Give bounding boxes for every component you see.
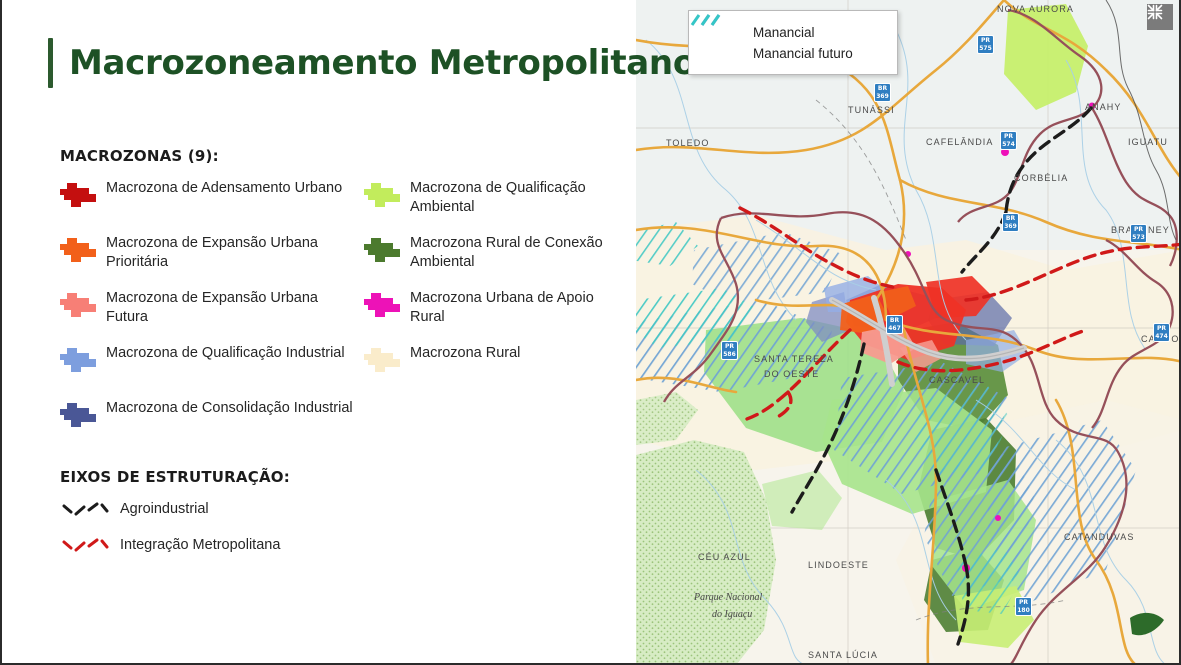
- map-place-label: CATANDUVAS: [1064, 532, 1135, 542]
- road-shield: PR180: [1015, 597, 1032, 616]
- map-legend-row: Manancial futuro: [703, 44, 885, 62]
- map-place-label: CORBÉLIA: [1014, 173, 1068, 183]
- map-place-label: DO OESTE: [764, 369, 819, 379]
- map-place-label: IGUATU: [1128, 137, 1168, 147]
- macrozona-swatch: [362, 290, 402, 320]
- map-place-label: NOVA AURORA: [997, 4, 1074, 14]
- macrozona-label: Macrozona de Qualificação Ambiental: [410, 178, 632, 217]
- map-legend-row: Manancial: [703, 23, 885, 41]
- road-shield-type: BR: [875, 85, 890, 93]
- map-legend-label: Manancial futuro: [753, 46, 853, 61]
- macrozona-label: Macrozona Rural de Conexão Ambiental: [410, 233, 632, 272]
- map-place-label: ANAHY: [1085, 102, 1122, 112]
- map-place-label: TOLEDO: [666, 138, 709, 148]
- road-shield-number: 369: [875, 93, 890, 101]
- macrozona-label: Macrozona Rural: [410, 343, 520, 363]
- eixo-item: Agroindustrial: [60, 498, 280, 520]
- macrozona-swatch: [58, 400, 98, 430]
- macrozona-swatch: [58, 235, 98, 265]
- eixo-label: Integração Metropolitana: [120, 537, 280, 553]
- road-shield-number: 369: [1003, 223, 1018, 231]
- macrozona-item: Macrozona Rural: [362, 343, 632, 387]
- road-shield-number: 573: [1131, 234, 1146, 242]
- title-accent-bar: [48, 38, 53, 88]
- road-shield-type: PR: [1001, 133, 1016, 141]
- macrozona-label: Macrozona de Qualificação Industrial: [106, 343, 345, 363]
- map-place-label: SANTA LÚCIA: [808, 650, 878, 660]
- macrozona-label: Macrozona de Adensamento Urbano: [106, 178, 342, 198]
- map-place-label: do Iguaçu: [712, 609, 752, 620]
- road-shield-type: PR: [1154, 325, 1169, 333]
- map-place-label: CAFELÂNDIA: [926, 137, 994, 147]
- eixos-heading: EIXOS DE ESTRUTURAÇÃO:: [60, 468, 290, 486]
- road-shield-type: PR: [1131, 226, 1146, 234]
- macrozonas-column-right: Macrozona de Qualificação AmbientalMacro…: [362, 178, 632, 398]
- map-legend-label: Manancial: [753, 25, 815, 40]
- macrozona-label: Macrozona de Expansão Urbana Futura: [106, 288, 358, 327]
- macrozona-item: Macrozona Urbana de Apoio Rural: [362, 288, 632, 332]
- map-place-label: Parque Nacional: [693, 592, 762, 603]
- road-shield-type: BR: [887, 317, 902, 325]
- road-shield-number: 574: [1001, 141, 1016, 149]
- collapse-icon[interactable]: [1147, 4, 1173, 30]
- title-row: Macrozoneamento Metropolitano: [48, 38, 696, 88]
- macrozona-label: Macrozona de Expansão Urbana Prioritária: [106, 233, 358, 272]
- map-viewport[interactable]: NOVA AURORATUNÁSSITOLEDOCAFELÂNDIAANAHYI…: [636, 0, 1181, 665]
- legend-panel: Macrozoneamento Metropolitano MACROZONAS…: [2, 0, 636, 665]
- road-shield-type: PR: [722, 343, 737, 351]
- macrozona-swatch: [362, 180, 402, 210]
- eixo-label: Agroindustrial: [120, 501, 209, 517]
- eixo-line-symbol: [60, 498, 114, 520]
- road-shield-type: PR: [978, 37, 993, 45]
- road-shield: BR467: [886, 315, 903, 334]
- macrozona-item: Macrozona de Qualificação Ambiental: [362, 178, 632, 222]
- road-shield: PR575: [977, 35, 994, 54]
- map-legend-box: ManancialManancial futuro: [688, 10, 898, 75]
- slide-root: Macrozoneamento Metropolitano MACROZONAS…: [0, 0, 1181, 665]
- macrozona-label: Macrozona de Consolidação Industrial: [106, 398, 353, 418]
- macrozona-swatch: [362, 345, 402, 375]
- map-canvas: NOVA AURORATUNÁSSITOLEDOCAFELÂNDIAANAHYI…: [636, 0, 1181, 665]
- eixo-line-symbol: [60, 534, 114, 556]
- macrozona-item: Macrozona de Adensamento Urbano: [58, 178, 358, 222]
- macrozonas-heading: MACROZONAS (9):: [60, 147, 219, 165]
- road-shield: BR369: [874, 83, 891, 102]
- macrozona-swatch: [58, 345, 98, 375]
- macrozonas-column-left: Macrozona de Adensamento UrbanoMacrozona…: [58, 178, 358, 453]
- road-shield-number: 467: [887, 325, 902, 333]
- road-shield-type: PR: [1016, 599, 1031, 607]
- road-shield-type: BR: [1003, 215, 1018, 223]
- road-shield: PR474: [1153, 323, 1170, 342]
- hatch-symbol: [703, 44, 743, 62]
- macrozona-item: Macrozona de Qualificação Industrial: [58, 343, 358, 387]
- macrozona-swatch: [58, 180, 98, 210]
- road-shield-number: 586: [722, 351, 737, 359]
- map-place-label: TUNÁSSI: [848, 105, 895, 115]
- eixos-list: AgroindustrialIntegração Metropolitana: [60, 498, 280, 570]
- macrozona-label: Macrozona Urbana de Apoio Rural: [410, 288, 632, 327]
- map-place-label: LINDOESTE: [808, 560, 869, 570]
- eixo-item: Integração Metropolitana: [60, 534, 280, 556]
- road-shield-number: 575: [978, 45, 993, 53]
- macrozona-item: Macrozona de Expansão Urbana Prioritária: [58, 233, 358, 277]
- macrozona-swatch: [58, 290, 98, 320]
- map-place-label: SANTA TEREZA: [754, 354, 834, 364]
- macrozona-item: Macrozona de Expansão Urbana Futura: [58, 288, 358, 332]
- map-place-label: CASCAVEL: [929, 375, 985, 385]
- road-shield-number: 180: [1016, 607, 1031, 615]
- road-shield-number: 474: [1154, 333, 1169, 341]
- macrozona-swatch: [362, 235, 402, 265]
- road-shield: PR573: [1130, 224, 1147, 243]
- road-shield: BR369: [1002, 213, 1019, 232]
- macrozona-item: Macrozona de Consolidação Industrial: [58, 398, 358, 442]
- macrozona-item: Macrozona Rural de Conexão Ambiental: [362, 233, 632, 277]
- road-shield: PR586: [721, 341, 738, 360]
- road-shield: PR574: [1000, 131, 1017, 150]
- map-place-label: CÉU AZUL: [698, 552, 751, 562]
- page-title: Macrozoneamento Metropolitano: [69, 43, 696, 83]
